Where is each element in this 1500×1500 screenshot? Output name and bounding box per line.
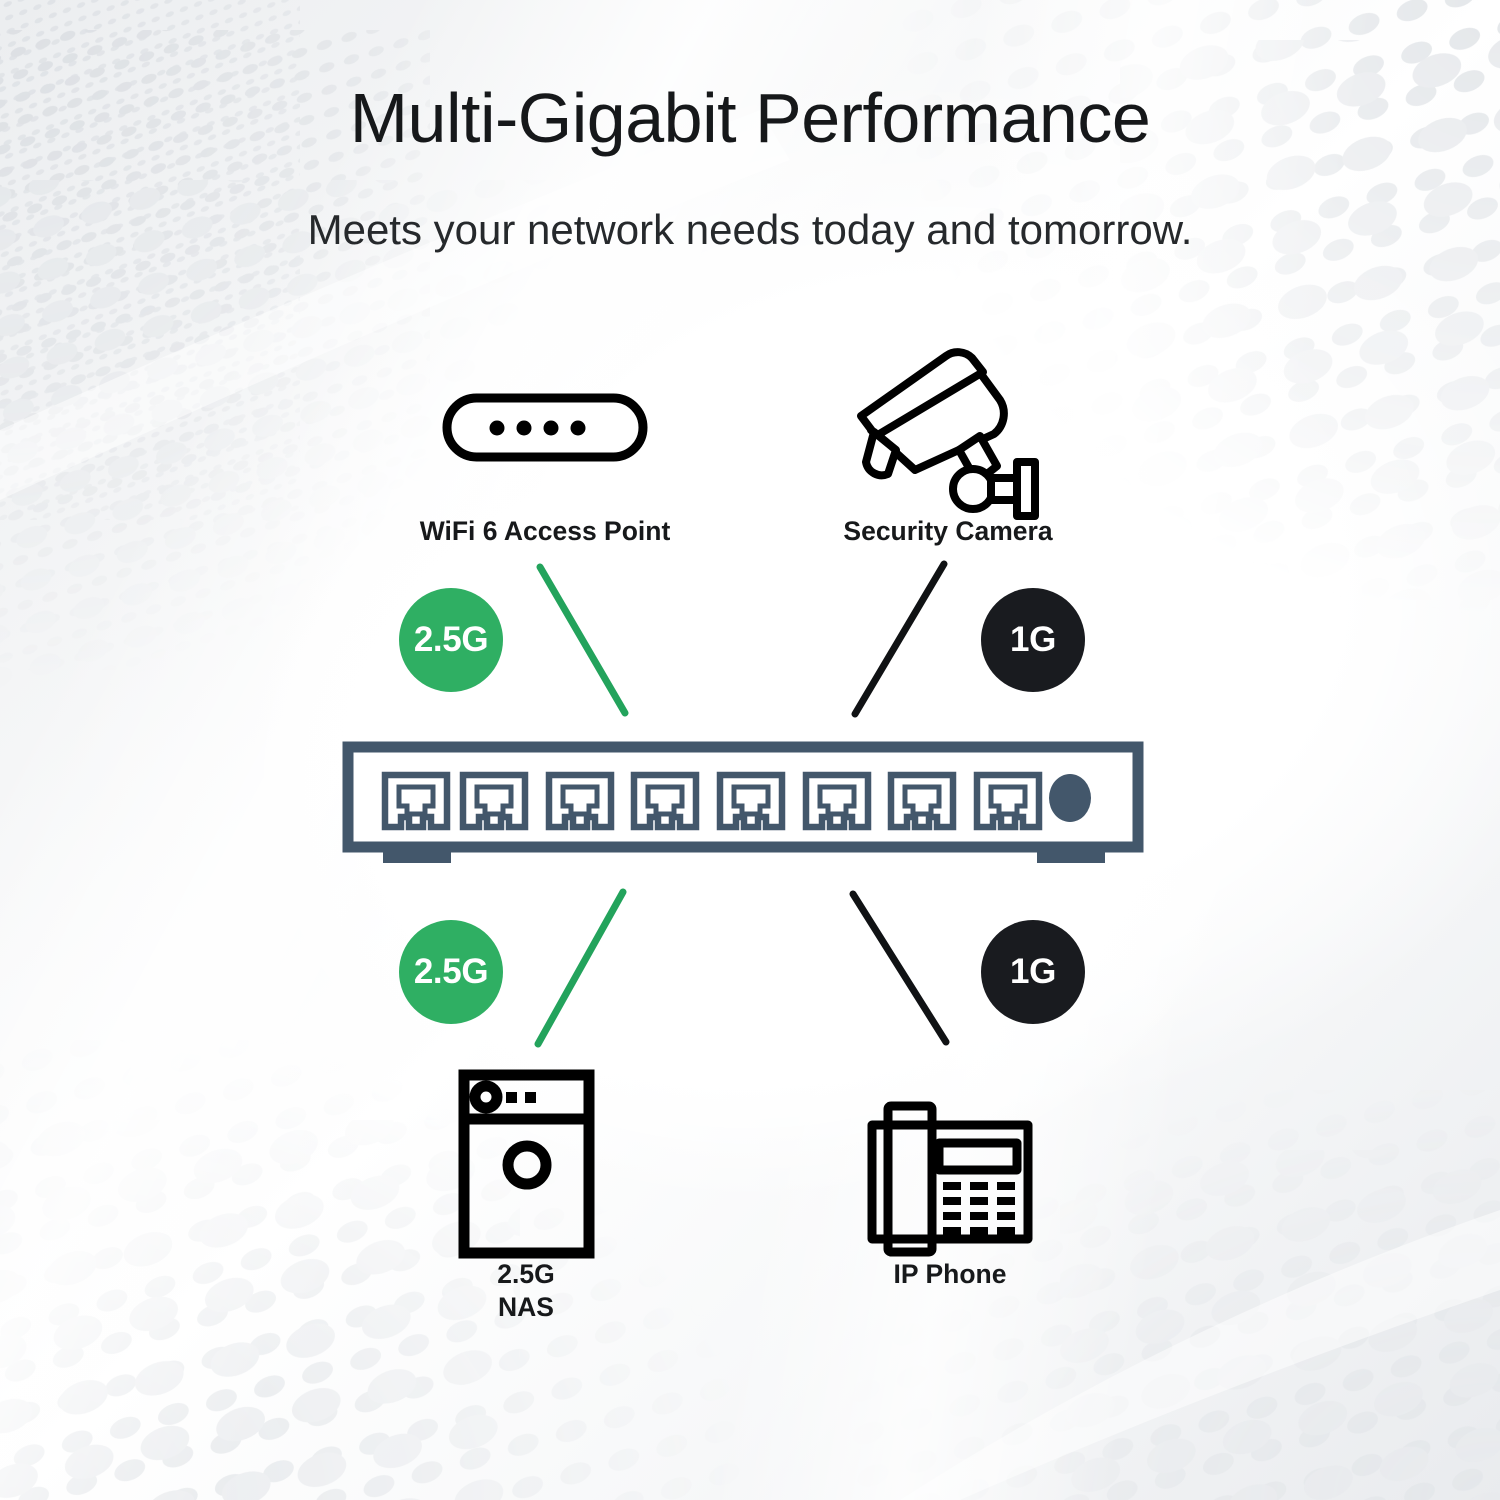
infographic-canvas: Multi-Gigabit Performance Meets your net… bbox=[0, 0, 1500, 1500]
speed-badge-ip-phone: 1G bbox=[981, 920, 1085, 1024]
speed-badge-nas: 2.5G bbox=[399, 920, 503, 1024]
device-label-ip-phone: IP Phone bbox=[770, 1258, 1130, 1291]
ip-phone-icon[interactable] bbox=[0, 0, 1500, 1500]
speed-badge-security-camera: 1G bbox=[981, 588, 1085, 692]
phone-keypad bbox=[943, 1182, 1015, 1235]
speed-badge-access-point: 2.5G bbox=[399, 588, 503, 692]
